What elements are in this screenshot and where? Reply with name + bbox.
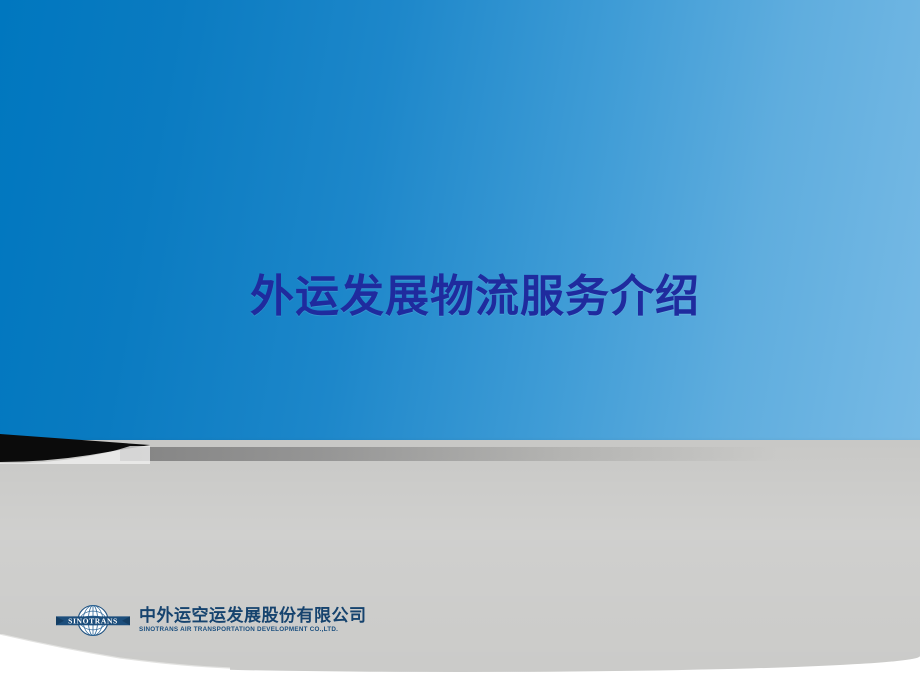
- divider-gray-strip: [120, 447, 920, 461]
- black-wedge-shape: [0, 434, 150, 464]
- divider-black-wedge: [0, 434, 150, 464]
- page-title: 外运发展物流服务介绍: [250, 268, 890, 326]
- sinotrans-banner-text: SINOTRANS: [68, 617, 118, 626]
- header-blue-band: [0, 0, 920, 447]
- company-logo: SINOTRANS 中外运空运发展股份有限公司 SINOTRANS AIR TR…: [54, 604, 367, 637]
- footer-white-notch: [0, 634, 230, 690]
- sinotrans-globe-icon: SINOTRANS: [54, 604, 132, 637]
- white-notch-shape: [0, 634, 230, 690]
- logo-text-block: 中外运空运发展股份有限公司 SINOTRANS AIR TRANSPORTATI…: [139, 608, 367, 633]
- slide-canvas: 外运发展物流服务介绍: [0, 0, 920, 690]
- company-name-cn: 中外运空运发展股份有限公司: [139, 608, 367, 625]
- company-name-en: SINOTRANS AIR TRANSPORTATION DEVELOPMENT…: [139, 627, 367, 633]
